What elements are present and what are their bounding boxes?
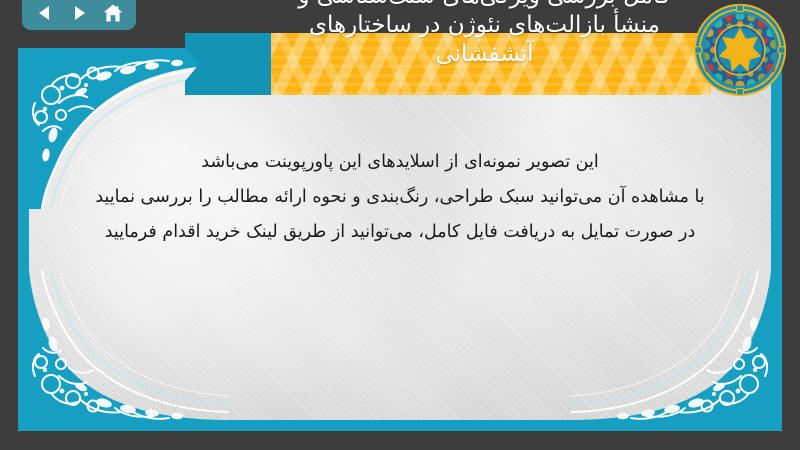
title-line-1: کامل بررسی ویژگی‌های سنگ‌شناسی و	[255, 0, 714, 11]
slide-body-text: این تصویر نمونه‌ای از اسلایدهای این پاور…	[59, 145, 741, 250]
navigation-toolbar	[22, 0, 136, 30]
home-button[interactable]	[99, 1, 127, 25]
title-line-3: آتشفشانی	[255, 40, 714, 69]
body-line-1: این تصویر نمونه‌ای از اسلایدهای این پاور…	[59, 145, 741, 180]
arabesque-corner-flourish-icon	[29, 270, 229, 420]
home-icon	[103, 4, 123, 23]
body-line-2: با مشاهده آن می‌توانید سبک طراحی، رنگ‌بن…	[59, 180, 741, 215]
body-line-3: در صورت تمایل به دریافت فایل کامل، می‌تو…	[59, 215, 741, 250]
page-title: کامل بررسی ویژگی‌های سنگ‌شناسی و منشأ با…	[255, 0, 714, 69]
forward-icon	[70, 4, 88, 22]
arabesque-corner-flourish-icon	[571, 270, 771, 420]
back-button[interactable]	[31, 1, 59, 25]
slide-content-area: این تصویر نمونه‌ای از اسلایدهای این پاور…	[29, 59, 771, 420]
forward-button[interactable]	[65, 1, 93, 25]
islamic-star-medallion-icon	[692, 2, 788, 98]
title-line-2: منشأ بازالت‌های نئوژن در ساختارهای	[255, 11, 714, 40]
slide-frame: این تصویر نمونه‌ای از اسلایدهای این پاور…	[18, 48, 782, 431]
back-icon	[36, 4, 54, 22]
slide-viewer: این تصویر نمونه‌ای از اسلایدهای این پاور…	[0, 0, 800, 450]
